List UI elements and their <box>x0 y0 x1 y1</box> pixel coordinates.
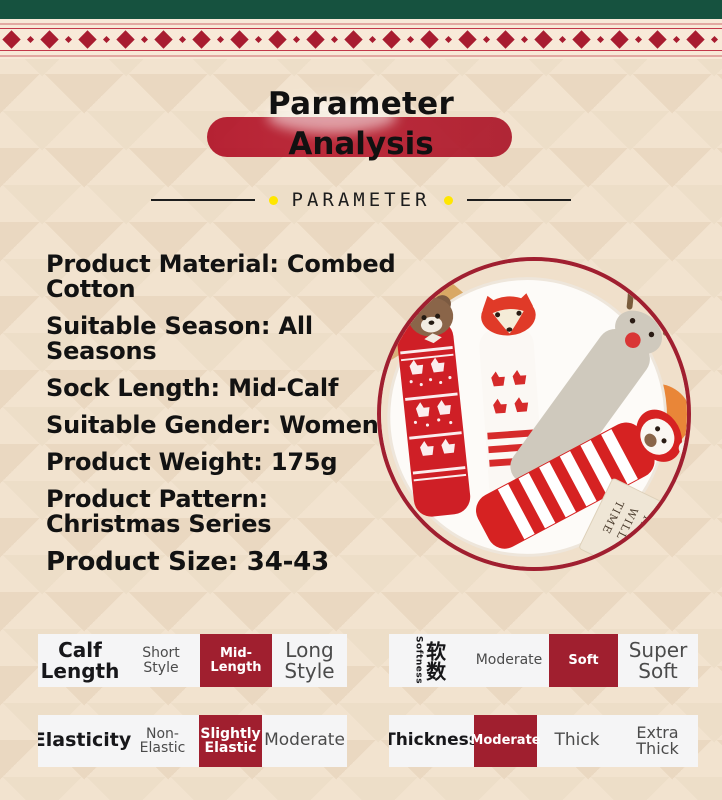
diamond-icon <box>230 30 248 48</box>
spec-bar-label-softness: Softness 软数 <box>389 634 469 687</box>
specification-list: Product Material: Combed Cotton Suitable… <box>46 252 406 576</box>
diamond-icon <box>420 30 438 48</box>
spec-option-soft-selected[interactable]: Soft <box>549 634 618 687</box>
top-green-strip <box>0 0 722 19</box>
diamond-dot-icon <box>559 36 566 43</box>
spec-option-moderate-elasticity[interactable]: Moderate <box>262 715 347 767</box>
diamond-icon <box>686 30 704 48</box>
spec-product-pattern: Product Pattern: Christmas Series <box>46 487 406 537</box>
parameter-analysis-page: Parameter Analysis PARAMETER Product Mat… <box>0 0 722 800</box>
diamond-dot-icon <box>293 36 300 43</box>
diamond-icon <box>648 30 666 48</box>
diamond-icon <box>382 30 400 48</box>
diamond-icon <box>154 30 172 48</box>
diamond-icon <box>306 30 324 48</box>
spec-option-long-style[interactable]: Long Style <box>272 634 347 687</box>
spec-option-extra-thick[interactable]: Extra Thick <box>617 715 698 767</box>
diamond-dot-icon <box>445 36 452 43</box>
page-title-line2: Analysis <box>0 124 722 164</box>
diamond-dot-icon <box>483 36 490 43</box>
spec-bar-label-softness-en: Softness <box>413 636 422 684</box>
spec-bar-thickness: Thickness Moderate Thick Extra Thick <box>389 715 698 767</box>
diamond-dot-icon <box>179 36 186 43</box>
spec-bar-label-calf-length: Calf Length <box>38 634 122 687</box>
diamond-icon <box>610 30 628 48</box>
subtitle-dot-left-icon <box>269 196 278 205</box>
band-rule-top-inner <box>0 28 722 29</box>
diamond-dot-icon <box>673 36 680 43</box>
spec-bar-elasticity: Elasticity Non-Elastic Slightly Elastic … <box>38 715 347 767</box>
diamond-dot-icon <box>521 36 528 43</box>
spec-suitable-gender: Suitable Gender: Women <box>46 413 406 438</box>
spec-bar-label-thickness: Thickness <box>389 715 474 767</box>
diamond-icon <box>116 30 134 48</box>
subtitle-dot-right-icon <box>444 196 453 205</box>
diamond-dot-icon <box>27 36 34 43</box>
spec-option-thick[interactable]: Thick <box>537 715 617 767</box>
diamond-dot-icon <box>65 36 72 43</box>
diamond-pattern-row <box>0 30 722 49</box>
diamond-icon <box>534 30 552 48</box>
diamond-icon <box>458 30 476 48</box>
spec-bar-label-softness-cn: 软数 <box>425 641 445 681</box>
subtitle-row: PARAMETER <box>0 185 722 215</box>
spec-suitable-season: Suitable Season: All Seasons <box>46 314 406 364</box>
spec-bar-softness: Softness 软数 Moderate Soft Super Soft <box>389 634 698 687</box>
band-rule-bottom-inner <box>0 50 722 51</box>
subtitle-rule-right <box>467 199 571 201</box>
spec-option-super-soft[interactable]: Super Soft <box>618 634 698 687</box>
diamond-dot-icon <box>369 36 376 43</box>
subtitle-rule-left <box>151 199 255 201</box>
product-photo: TIME WILL TELL <box>377 257 691 571</box>
diamond-dot-icon <box>103 36 110 43</box>
diamond-dot-icon <box>711 36 718 43</box>
diamond-dot-icon <box>141 36 148 43</box>
spec-option-mid-length-selected[interactable]: Mid-Length <box>200 634 272 687</box>
diamond-icon <box>344 30 362 48</box>
diamond-icon <box>496 30 514 48</box>
spec-option-non-elastic[interactable]: Non-Elastic <box>126 715 199 767</box>
diamond-icon <box>192 30 210 48</box>
diamond-dot-icon <box>597 36 604 43</box>
spec-option-short-style[interactable]: Short Style <box>122 634 200 687</box>
spec-bar-label-elasticity: Elasticity <box>38 715 126 767</box>
diamond-dot-icon <box>255 36 262 43</box>
subtitle-label: PARAMETER <box>292 189 431 211</box>
diamond-icon <box>2 30 20 48</box>
spec-sock-length: Sock Length: Mid-Calf <box>46 376 406 401</box>
spec-product-material: Product Material: Combed Cotton <box>46 252 406 302</box>
spec-option-slightly-elastic-selected[interactable]: Slightly Elastic <box>199 715 262 767</box>
diamond-icon <box>268 30 286 48</box>
diamond-icon <box>40 30 58 48</box>
diamond-dot-icon <box>407 36 414 43</box>
spec-product-size: Product Size: 34-43 <box>46 549 406 576</box>
page-title-line1: Parameter <box>0 84 722 124</box>
diamond-dot-icon <box>217 36 224 43</box>
spec-option-moderate-softness[interactable]: Moderate <box>469 634 549 687</box>
spec-option-moderate-thickness-selected[interactable]: Moderate <box>474 715 537 767</box>
diamond-icon <box>78 30 96 48</box>
diamond-dot-icon <box>331 36 338 43</box>
diamond-icon <box>572 30 590 48</box>
diamond-dot-icon <box>635 36 642 43</box>
band-rule-bottom-outer <box>0 55 722 57</box>
band-rule-top-outer <box>0 23 722 25</box>
spec-bar-calf-length: Calf Length Short Style Mid-Length Long … <box>38 634 347 687</box>
spec-product-weight: Product Weight: 175g <box>46 450 406 475</box>
